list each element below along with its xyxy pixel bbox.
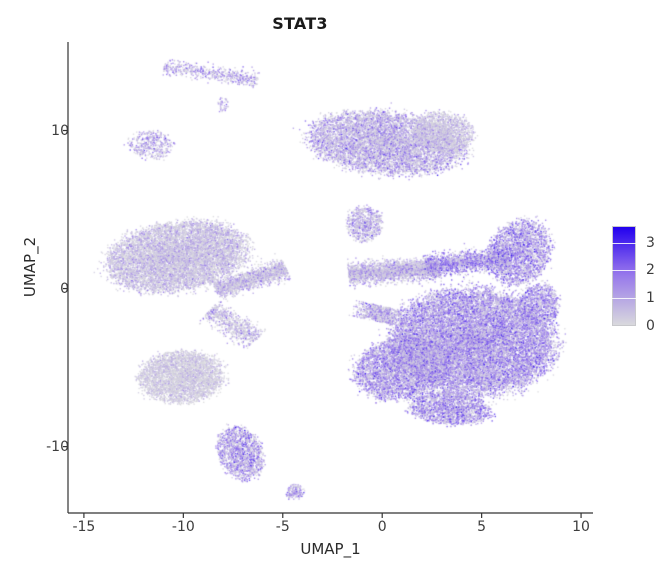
colorbar-tick-label: 2 xyxy=(646,262,655,278)
colorbar-tick-mark xyxy=(612,298,636,299)
y-tick-label: 10 xyxy=(51,123,69,139)
colorbar-tick-mark xyxy=(612,243,636,244)
colorbar-gradient xyxy=(612,226,636,326)
x-axis-label: UMAP_1 xyxy=(68,540,593,558)
colorbar-tick-label: 3 xyxy=(646,235,655,251)
y-axis-label: UMAP_2 xyxy=(21,207,39,327)
x-tick-label: 10 xyxy=(572,519,590,535)
x-tick-marks xyxy=(84,513,581,518)
page-title: STAT3 xyxy=(0,14,600,33)
x-tick-label: 5 xyxy=(477,519,486,535)
colorbar-tick-mark xyxy=(612,326,636,327)
colorbar-tick-label: 0 xyxy=(646,318,655,334)
umap-feature-plot: STAT3 -15-10-50510 -10010 UMAP_1 UMAP_2 … xyxy=(0,0,672,576)
x-tick-label: -10 xyxy=(172,519,195,535)
colorbar-tick-label: 1 xyxy=(646,290,655,306)
x-tick-label: -5 xyxy=(276,519,290,535)
scatter-plot-canvas xyxy=(68,42,593,513)
y-tick-label: -10 xyxy=(46,439,69,455)
x-tick-label: -15 xyxy=(72,519,95,535)
x-tick-label: 0 xyxy=(378,519,387,535)
colorbar-tick-mark xyxy=(612,270,636,271)
y-tick-label: 0 xyxy=(60,281,69,297)
